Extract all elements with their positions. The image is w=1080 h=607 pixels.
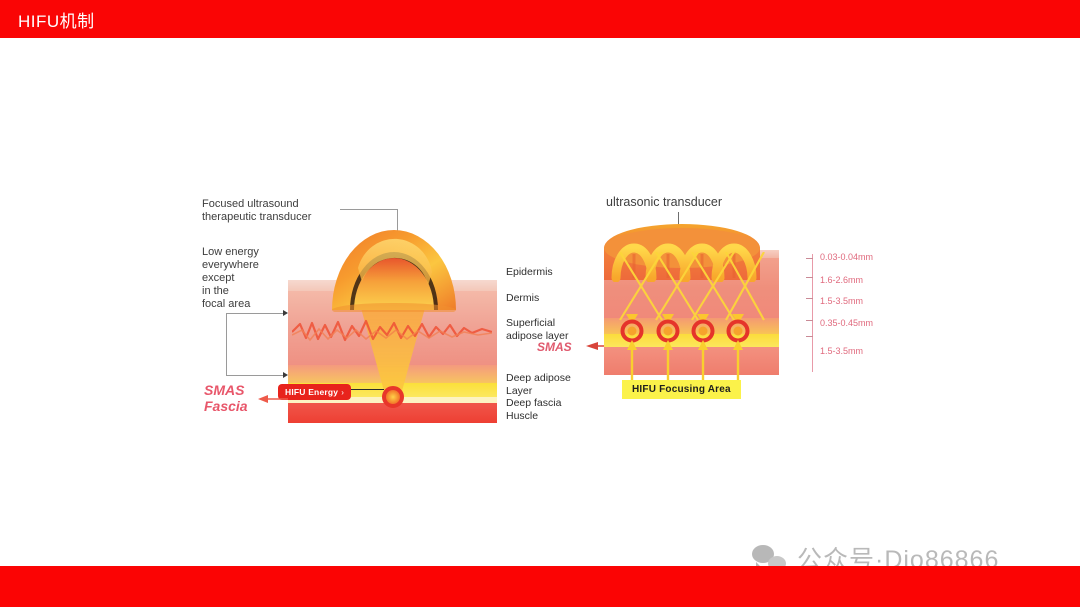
label-deep-layers: Deep adipose Layer Deep fascia Huscle [506, 372, 571, 422]
hifu-energy-badge[interactable]: HIFU Energy› [278, 384, 351, 400]
left-low-energy-callout: Low energy everywhere except in the foca… [202, 246, 259, 311]
left-wave-band [292, 318, 492, 344]
left-focal-ring [382, 386, 404, 408]
slide-bottom-bar [0, 566, 1080, 607]
smas-fascia-label: SMAS Fascia [204, 382, 248, 414]
measurement-deep-adipose: 1.5-3.5mm [820, 346, 863, 356]
leader-line-top-h [340, 209, 398, 210]
right-beam-lines [604, 252, 779, 324]
leader-bracket-bottom [226, 375, 284, 376]
smas-fascia-arrow-icon [258, 394, 288, 404]
depth-ruler: 0.03-0.04mm 1.6-2.6mm 1.5-3.5mm 0.35-0.4… [812, 250, 908, 380]
left-transducer-callout: Focused ultrasound therapeutic transduce… [202, 198, 311, 224]
label-smas: SMAS [537, 341, 572, 354]
ruler-tick [806, 277, 813, 278]
ruler-tick [806, 336, 813, 337]
right-up-arrows [604, 340, 779, 384]
chevron-right-icon: › [341, 388, 344, 397]
ruler-tick [806, 298, 813, 299]
right-transducer-callout: ultrasonic transducer [606, 196, 722, 209]
label-superficial-adipose: Superficial adipose layer [506, 317, 568, 342]
hifu-energy-badge-label: HIFU Energy [285, 387, 338, 397]
slide-canvas: HIFU机制 Focused ultrasound therapeutic tr… [0, 0, 1080, 607]
ruler-spine [812, 254, 813, 372]
ruler-tick [806, 258, 813, 259]
left-transducer-dome [328, 216, 460, 312]
ruler-tick [806, 320, 813, 321]
measurement-dermis: 1.6-2.6mm [820, 275, 863, 285]
label-epidermis: Epidermis [506, 266, 553, 279]
right-diagram: ultrasonic transducer [600, 190, 900, 425]
measurement-superficial-adipose: 1.5-3.5mm [820, 296, 863, 306]
measurement-smas: 0.35-0.45mm [820, 318, 873, 328]
left-diagram: Focused ultrasound therapeutic transduce… [196, 190, 506, 440]
label-dermis: Dermis [506, 292, 539, 305]
hifu-focusing-area-label: HIFU Focusing Area [622, 380, 741, 399]
leader-bracket-top [226, 313, 284, 314]
page-title: HIFU机制 [18, 7, 95, 32]
slide-title-bar: HIFU机制 [0, 0, 1080, 38]
measurement-epidermis: 0.03-0.04mm [820, 252, 873, 262]
leader-bracket-v [226, 313, 227, 375]
